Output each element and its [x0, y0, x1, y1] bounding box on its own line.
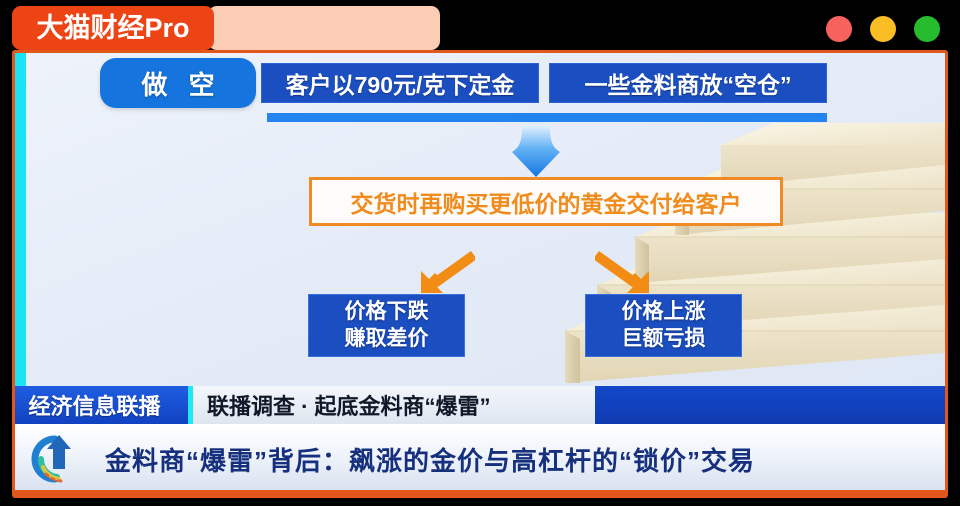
- segment-label: 联播调查 · 起底金料商“爆雷”: [207, 389, 491, 421]
- arrow-down-right-icon: [595, 249, 655, 295]
- cctv2-logo-icon: [23, 429, 85, 491]
- deposit-tag: 客户以790元/克下定金: [261, 63, 539, 103]
- short-position-tag: 一些金料商放“空仓”: [549, 63, 827, 103]
- window-controls: [826, 16, 940, 42]
- program-name-label: 经济信息联播: [28, 389, 160, 421]
- deposit-tag-label: 客户以790元/克下定金: [286, 66, 515, 100]
- video-frame: 做 空 客户以790元/克下定金 一些金料商放“空仓”: [12, 50, 948, 498]
- news-ticker: 经济信息联播 联播调查 · 起底金料商“爆雷”: [15, 386, 945, 424]
- result-price-up-box: 价格上涨 巨额亏损: [585, 294, 742, 357]
- watermark-brand-text: 大猫财经Pro: [36, 15, 189, 42]
- result-price-down-box: 价格下跌 赚取差价: [308, 294, 465, 357]
- watermark-peach-panel: [208, 6, 440, 50]
- watermark-brand-badge: 大猫财经Pro: [12, 6, 214, 50]
- left-accent-strip: [15, 53, 26, 386]
- close-dot[interactable]: [826, 16, 852, 42]
- blue-divider-bar: [267, 113, 827, 122]
- video-content: 做 空 客户以790元/克下定金 一些金料商放“空仓”: [15, 53, 945, 495]
- short-position-tag-label: 一些金料商放“空仓”: [585, 66, 792, 100]
- arrow-down-left-icon: [415, 249, 475, 295]
- down-arrow-icon: [505, 125, 567, 179]
- headline-bottom-rule: [15, 490, 945, 495]
- short-selling-pill: 做 空: [100, 58, 256, 108]
- callout-label: 交货时再购买更低价的黄金交付给客户: [351, 185, 742, 219]
- screenshot-root: 大猫财经Pro: [0, 0, 960, 506]
- result-price-down-line2: 赚取差价: [345, 326, 429, 352]
- result-price-up-line1: 价格上涨: [622, 299, 706, 325]
- headline-bar: 金料商“爆雷”背后：飙涨的金价与高杠杆的“锁价”交易: [15, 424, 945, 495]
- maximize-dot[interactable]: [914, 16, 940, 42]
- callout-box: 交货时再购买更低价的黄金交付给客户: [309, 177, 783, 226]
- result-price-up-line2: 巨额亏损: [622, 326, 706, 352]
- minimize-dot[interactable]: [870, 16, 896, 42]
- short-selling-pill-label: 做 空: [134, 65, 221, 102]
- result-price-down-line1: 价格下跌: [345, 299, 429, 325]
- headline-text: 金料商“爆雷”背后：飙涨的金价与高杠杆的“锁价”交易: [105, 441, 755, 478]
- program-name-badge: 经济信息联播: [15, 386, 188, 424]
- segment-panel: 联播调查 · 起底金料商“爆雷”: [193, 386, 595, 424]
